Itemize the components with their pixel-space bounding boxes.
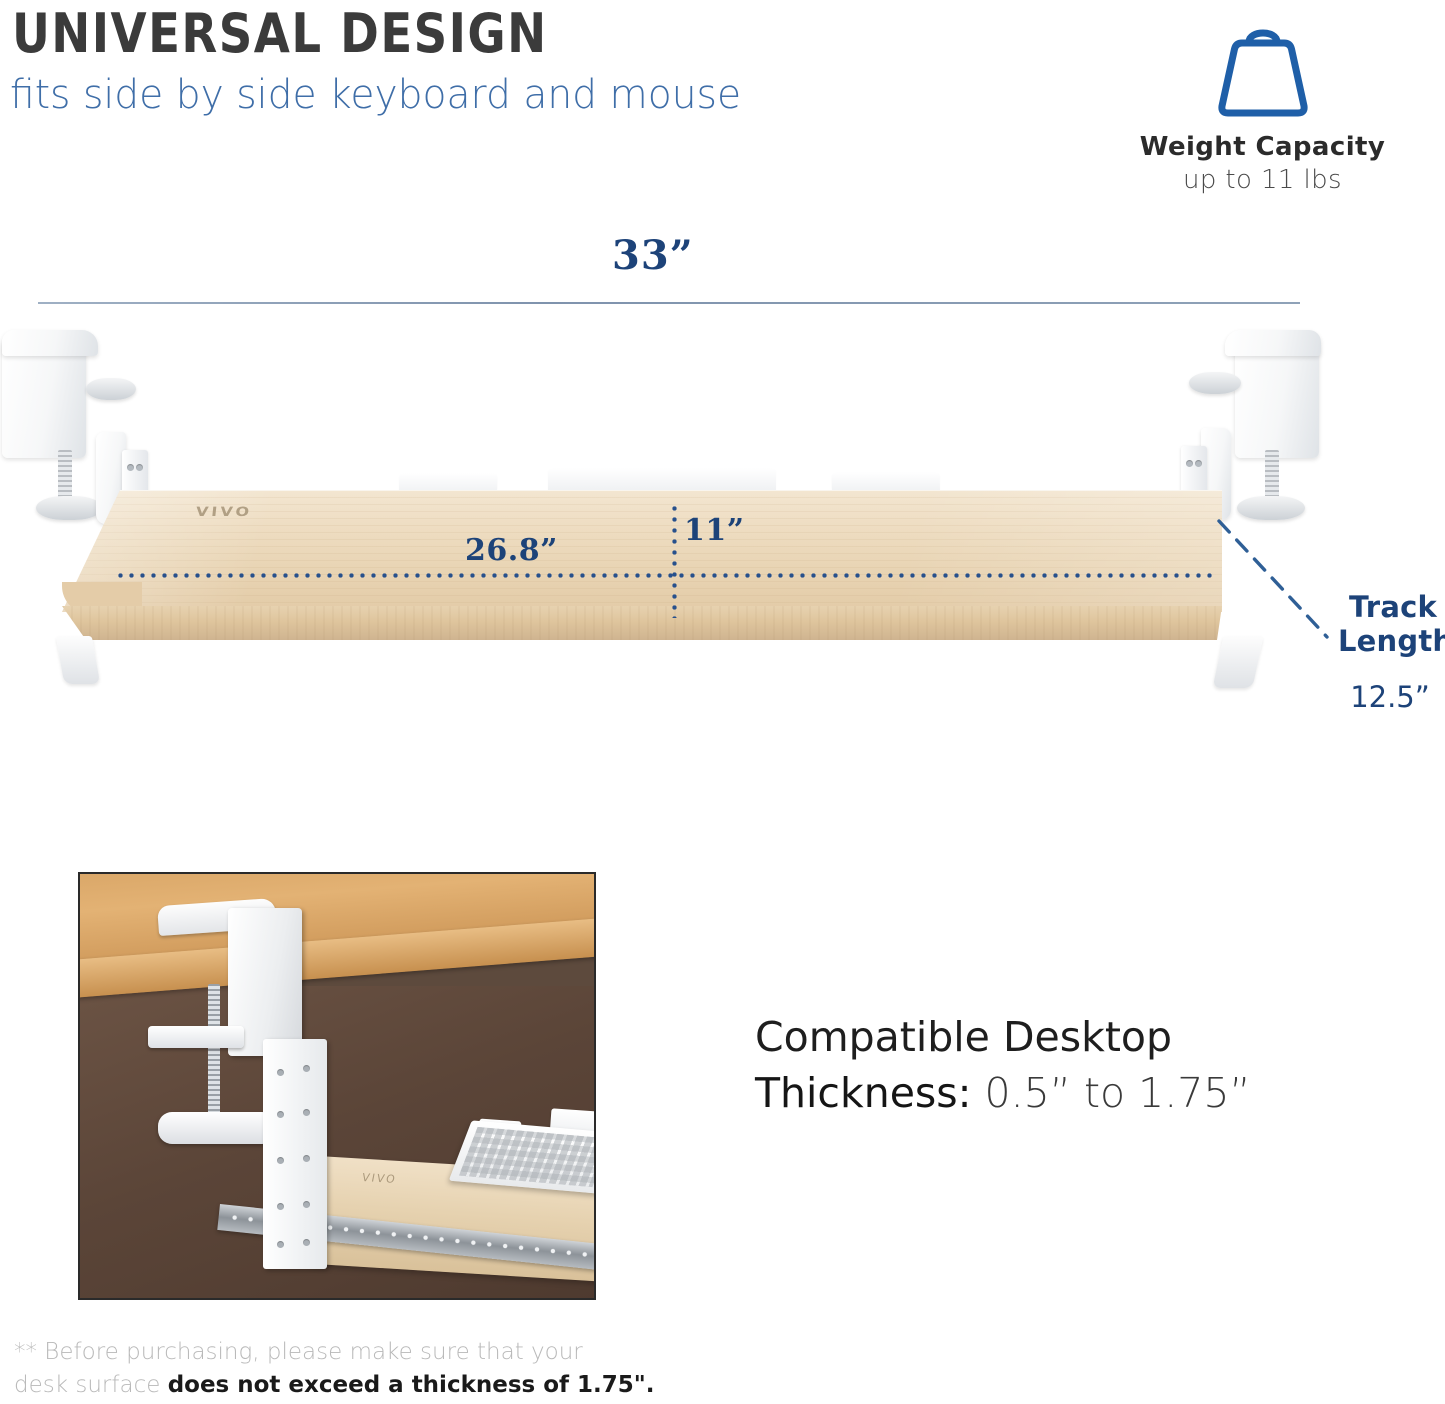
weight-capacity-title: Weight Capacity — [1080, 132, 1445, 162]
usable-width-label: 26.8” — [465, 533, 558, 568]
mount-hole — [303, 1239, 310, 1246]
footnote-lead: ** Before purchasing, please make sure t… — [14, 1339, 583, 1365]
mount-hole — [303, 1201, 310, 1208]
mount-hole — [277, 1069, 284, 1076]
page-subtitle: fits side by side keyboard and mouse — [10, 72, 741, 118]
track-length-line1: Track — [1338, 590, 1445, 624]
photo-brand-logo: VIVO — [361, 1171, 398, 1186]
mount-hole — [277, 1203, 284, 1210]
clamp-thumb-pad — [86, 378, 136, 400]
clamp-thumb-pad — [1189, 372, 1241, 394]
footnote-line2-light: desk surface — [14, 1372, 168, 1398]
mount-hole — [1186, 460, 1193, 467]
mount-hole — [303, 1109, 310, 1116]
photo-clamp-knob — [158, 1112, 276, 1144]
compatibility-line1: Compatible Desktop — [755, 1010, 1395, 1064]
page-title: UNIVERSAL DESIGN — [12, 2, 548, 65]
track-length-line2: Length — [1338, 624, 1445, 658]
photo-mount-plate — [263, 1039, 327, 1269]
mount-hole — [127, 464, 134, 471]
photo-clamp-lower-jaw — [148, 1026, 244, 1048]
overall-width-label: 33” — [612, 232, 694, 279]
width-dimension-line — [115, 573, 1215, 578]
overall-width-rule — [38, 302, 1300, 304]
compatibility-block: Compatible Desktop Thickness: 0.5” to 1.… — [755, 1010, 1395, 1122]
clamp-detail-photo: VIVO — [78, 872, 596, 1300]
compatibility-line2: Thickness: 0.5” to 1.75” — [755, 1064, 1395, 1122]
mount-hole — [277, 1241, 284, 1248]
photo-clamp-screw — [208, 984, 220, 1124]
depth-dimension-line — [672, 503, 677, 618]
keyboard-tray-edge — [62, 606, 1222, 640]
mount-hole — [1195, 460, 1202, 467]
mount-hole — [277, 1111, 284, 1118]
depth-label: 11” — [684, 513, 745, 548]
compatibility-thickness-label: Thickness: — [755, 1069, 971, 1117]
track-length-leader-line — [1215, 515, 1345, 645]
compatibility-thickness-value: 0.5” to 1.75” — [971, 1069, 1250, 1117]
tray-rail-bracket-left — [56, 636, 100, 684]
footnote-line2-bold: does not exceed a thickness of 1.75". — [168, 1372, 655, 1398]
mount-hole — [277, 1157, 284, 1164]
track-length-value: 12.5” — [1330, 680, 1445, 714]
mount-hole — [136, 464, 143, 471]
mount-hole — [303, 1155, 310, 1162]
mount-hole — [303, 1065, 310, 1072]
track-length-label: Track Length — [1338, 590, 1445, 658]
brand-logo: VIVO — [195, 504, 253, 519]
clamp-top-jaw — [1225, 330, 1321, 356]
footnote: ** Before purchasing, please make sure t… — [14, 1336, 794, 1402]
weight-capacity-badge: Weight Capacity up to 11 lbs — [1080, 6, 1445, 195]
weight-icon — [1205, 6, 1321, 124]
weight-capacity-value: up to 11 lbs — [1080, 165, 1445, 195]
clamp-top-jaw — [2, 330, 98, 356]
clamp-base-pad — [36, 496, 102, 520]
